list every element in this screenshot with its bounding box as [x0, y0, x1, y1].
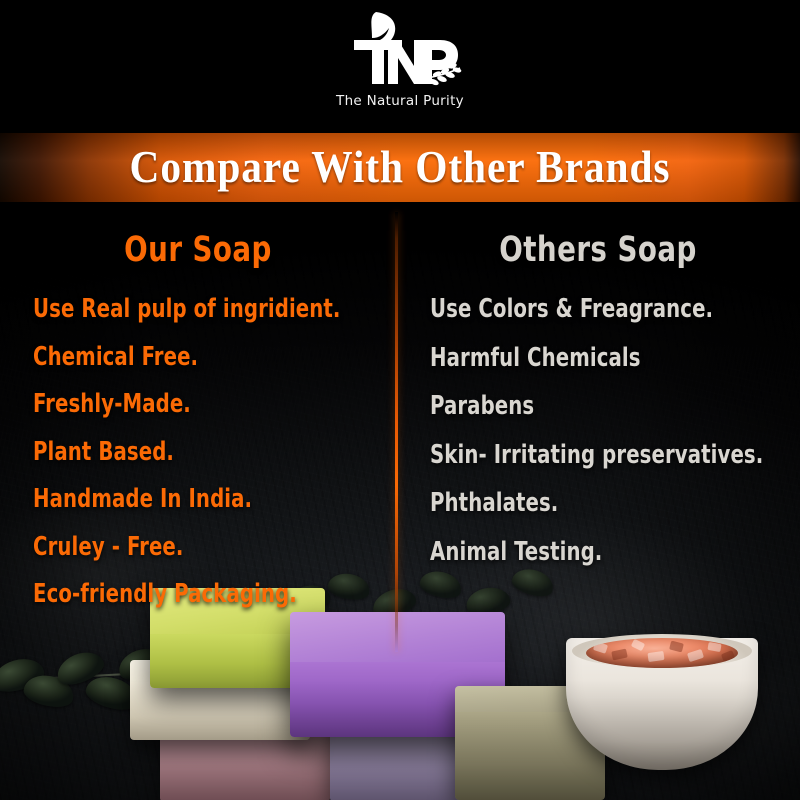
column-our-soap: Our Soap Use Real pulp of ingridient. Ch… — [0, 208, 396, 630]
our-soap-list: Use Real pulp of ingridient. Chemical Fr… — [0, 297, 396, 608]
tnp-leaf-monogram-icon — [336, 8, 464, 88]
column-heading-others-soap: Others Soap — [420, 230, 776, 270]
list-item: Plant Based. — [33, 440, 345, 466]
list-item: Use Colors & Freagrance. — [430, 297, 748, 323]
column-others-soap: Others Soap Use Colors & Freagrance. Har… — [396, 208, 800, 630]
list-item: Phthalates. — [430, 491, 748, 517]
list-item: Harmful Chemicals — [430, 346, 748, 372]
list-item: Skin- Irritating preservatives. — [430, 443, 748, 469]
list-item: Chemical Free. — [33, 345, 345, 371]
list-item: Handmade In India. — [33, 487, 345, 513]
brand-logo: The Natural Purity — [0, 8, 800, 109]
white-bowl-of-pink-himalayan-salt — [566, 618, 758, 778]
comparison-columns: Our Soap Use Real pulp of ingridient. Ch… — [0, 208, 800, 630]
poster-canvas: The Natural Purity Compare With Other Br… — [0, 0, 800, 800]
headline-banner: Compare With Other Brands — [0, 133, 800, 202]
list-item: Freshly-Made. — [33, 392, 345, 418]
salt-crystals — [586, 638, 738, 668]
list-item: Cruley - Free. — [33, 535, 345, 561]
others-soap-list: Use Colors & Freagrance. Harmful Chemica… — [396, 297, 800, 565]
headline-title: Compare With Other Brands — [130, 145, 671, 190]
column-heading-our-soap: Our Soap — [24, 230, 372, 270]
list-item: Use Real pulp of ingridient. — [33, 297, 345, 323]
list-item: Parabens — [430, 394, 748, 420]
brand-tagline: The Natural Purity — [336, 93, 464, 109]
list-item: Animal Testing. — [430, 540, 748, 566]
list-item: Eco-friendly Packaging. — [33, 582, 345, 608]
